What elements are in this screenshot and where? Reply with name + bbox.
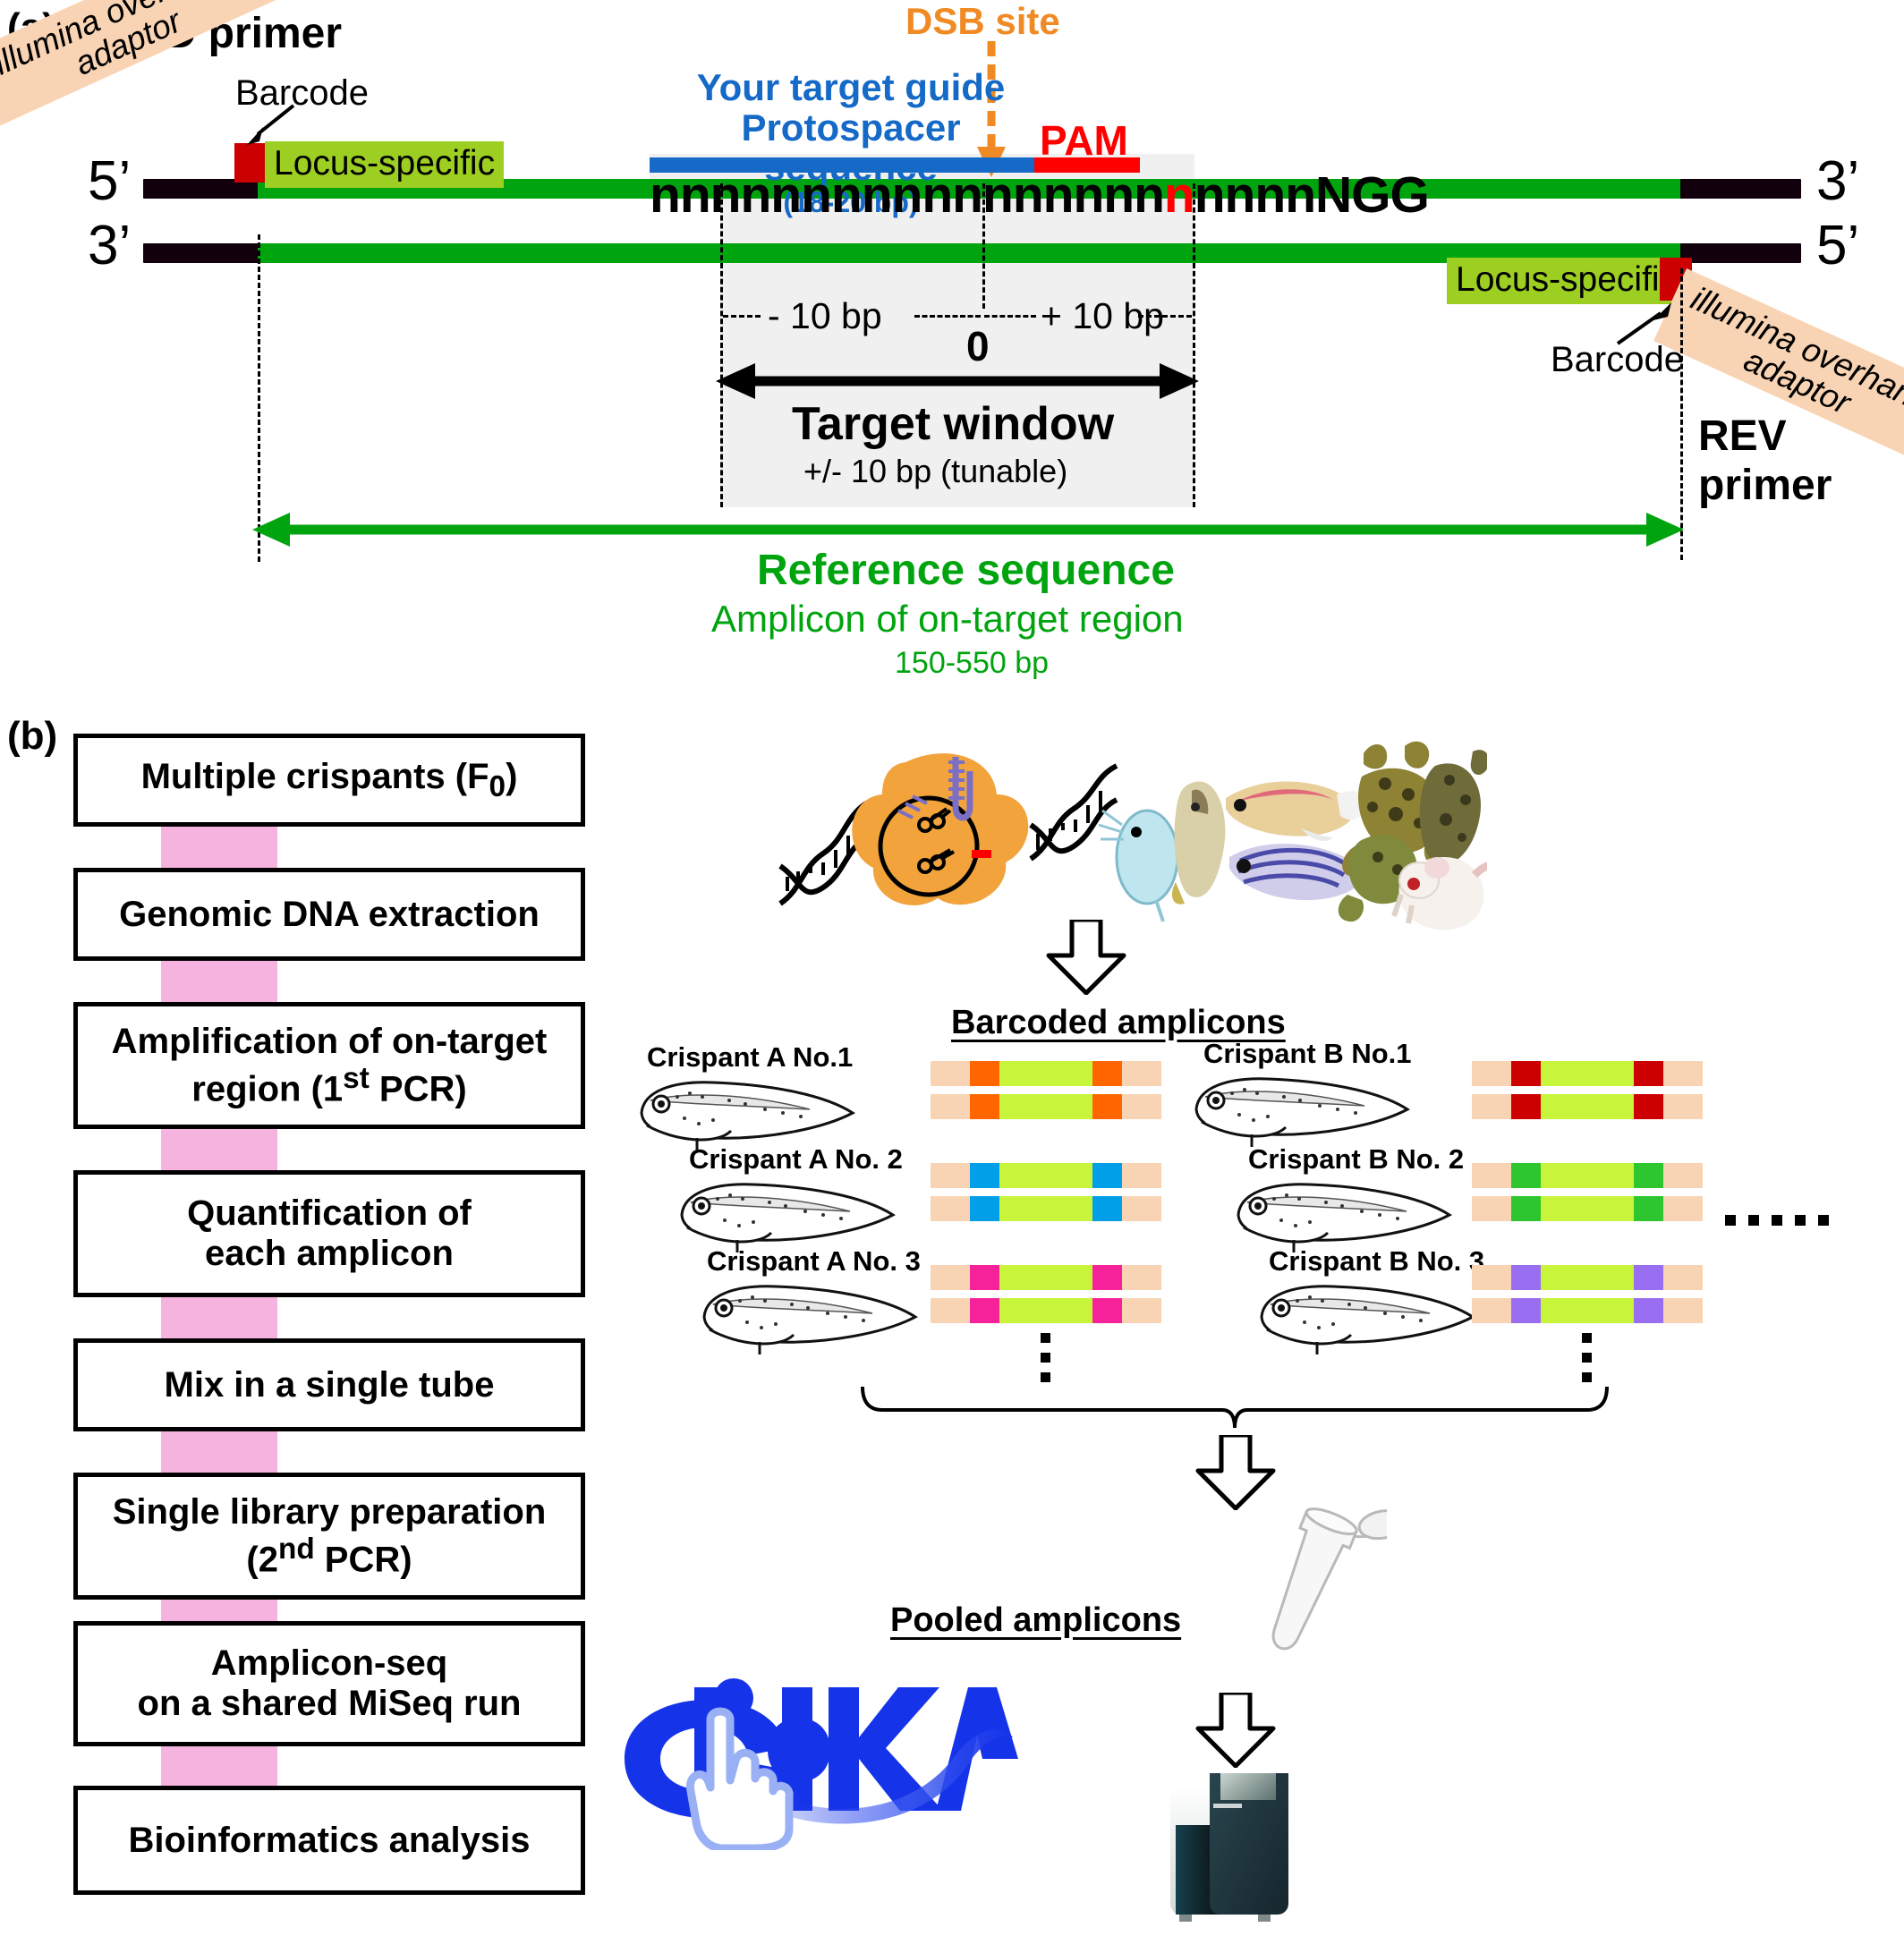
amplicon-adaptor-left (1472, 1265, 1511, 1290)
miseq-sequencer-icon (1154, 1773, 1378, 1936)
amplicon-adaptor-right (1663, 1298, 1703, 1323)
sequence-cut-base: n (1164, 166, 1194, 224)
window-right-dash (1193, 183, 1195, 507)
amplicon-adaptor-left (931, 1163, 970, 1188)
panel-b-label: (b) (7, 714, 57, 759)
amplicon-adaptor-right (1663, 1163, 1703, 1188)
tadpole-icon-b3 (1251, 1278, 1483, 1358)
pooling-brace-icon (859, 1383, 1611, 1442)
amplicon-barcode-left (1511, 1094, 1542, 1119)
flow-step-1-label: Genomic DNA extraction (119, 895, 540, 935)
pam-label: PAM (1040, 116, 1128, 165)
tadpole-icon-a1 (631, 1074, 863, 1154)
flow-step-6[interactable]: Amplicon-seqon a shared MiSeq run (73, 1621, 585, 1746)
amplicon-adaptor-right (1122, 1163, 1161, 1188)
amplicon-adaptor-right (1663, 1094, 1703, 1119)
amplicon-a-continuation-dots (1041, 1333, 1050, 1382)
barcode-label-rev: Barcode (1551, 340, 1684, 380)
amplicon-body (1541, 1196, 1633, 1221)
amplicon-barcode-left (970, 1196, 1000, 1221)
amplicon-body (999, 1061, 1092, 1086)
barcode-pointer-rev-icon (1611, 301, 1675, 345)
amplicon-strand-bottom (1472, 1196, 1703, 1221)
reference-sequence-length: 150-550 bp (895, 646, 1049, 681)
amplicon-adaptor-left (1472, 1094, 1511, 1119)
arrow-organisms-to-amplicons-icon (1045, 920, 1127, 995)
amplicon-body (999, 1265, 1092, 1290)
amplicon-strand-top (1472, 1061, 1703, 1086)
amplicon-row-b2 (1472, 1163, 1703, 1221)
amplicon-adaptor-left (1472, 1196, 1511, 1221)
window-left-dash (720, 183, 723, 507)
amplicon-adaptor-left (931, 1265, 970, 1290)
amplicon-barcode-left (970, 1265, 1000, 1290)
amplicon-adaptor-left (1472, 1163, 1511, 1188)
panel-a: (a) 5’ 3’ 3’ 5’ FWD primer illumina over… (0, 0, 1904, 707)
cas9-protein-icon (852, 753, 1028, 905)
amplicon-body (999, 1094, 1092, 1119)
amplicon-body (1541, 1298, 1633, 1323)
amplicon-b-continuation-dots (1582, 1333, 1592, 1382)
flow-step-1[interactable]: Genomic DNA extraction (73, 868, 585, 961)
amplicon-adaptor-right (1663, 1196, 1703, 1221)
amplicon-barcode-left (970, 1163, 1000, 1188)
amplicon-adaptor-left (1472, 1061, 1511, 1086)
amplicon-barcode-left (1511, 1298, 1542, 1323)
amplicon-strand-top (1472, 1163, 1703, 1188)
amplicon-adaptor-right (1122, 1298, 1161, 1323)
amplicon-adaptor-right (1122, 1094, 1161, 1119)
amplicon-strand-top (1472, 1265, 1703, 1290)
flow-step-5-label: Single library preparation(2nd PCR) (113, 1492, 547, 1580)
amplicon-adaptor-left (1472, 1298, 1511, 1323)
amplicon-adaptor-right (1122, 1265, 1161, 1290)
amplicon-barcode-right (1092, 1265, 1123, 1290)
amplicon-row-a1 (931, 1061, 1161, 1119)
amplicon-row-b1 (1472, 1061, 1703, 1119)
cas9-and-organisms-illustration (771, 732, 1487, 938)
amplicon-barcode-left (1511, 1163, 1542, 1188)
pooled-amplicons-title: Pooled amplicons (890, 1601, 1181, 1640)
flow-step-5[interactable]: Single library preparation(2nd PCR) (73, 1473, 585, 1600)
flow-step-6-label: Amplicon-seqon a shared MiSeq run (138, 1643, 522, 1724)
reference-sequence-subtitle: Amplicon of on-target region (711, 598, 1184, 641)
amplicon-body (1541, 1061, 1633, 1086)
amplicon-strand-top (931, 1061, 1161, 1086)
minus10-dash-left (723, 315, 761, 318)
amplicon-barcode-right (1634, 1298, 1664, 1323)
flow-step-4-label: Mix in a single tube (165, 1365, 495, 1405)
amplicon-barcode-right (1092, 1196, 1123, 1221)
amplicon-body (1541, 1094, 1633, 1119)
label-5prime-right: 5’ (1816, 218, 1859, 274)
minus-10bp-label: - 10 bp (768, 295, 882, 337)
rev-primer-title: REV primer (1698, 412, 1904, 510)
amplicon-row-a2 (931, 1163, 1161, 1221)
plus-10bp-label: + 10 bp (1041, 295, 1164, 337)
plus10-dash-left (984, 315, 1036, 318)
barcode-pointer-fwd-icon (242, 104, 304, 147)
flow-step-3[interactable]: Quantification ofeach amplicon (73, 1170, 585, 1297)
amplicon-body (1541, 1265, 1633, 1290)
locus-specific-rev: Locus-specific (1447, 258, 1686, 304)
flow-step-2[interactable]: Amplification of on-targetregion (1st PC… (73, 1002, 585, 1129)
model-organisms-icon (1099, 742, 1487, 930)
amplicon-adaptor-left (931, 1061, 970, 1086)
amplicon-adaptor-left (931, 1298, 970, 1323)
label-3prime-right: 3’ (1816, 154, 1859, 209)
flow-step-0[interactable]: Multiple crispants (F0) (73, 734, 585, 827)
dna-top-right-black (1680, 179, 1801, 199)
flow-step-0-label: Multiple crispants (F0) (141, 757, 518, 803)
target-sequence: nnnnnnnnnnnnnnnnnnnnnnNGG (650, 170, 1429, 221)
amplicon-adaptor-right (1663, 1061, 1703, 1086)
target-window-arrow-icon (716, 361, 1199, 401)
amplicon-body (999, 1163, 1092, 1188)
flow-step-3-label: Quantification ofeach amplicon (187, 1193, 472, 1274)
amplicon-barcode-right (1634, 1061, 1664, 1086)
flow-step-7[interactable]: Bioinformatics analysis (73, 1786, 585, 1895)
amplicon-barcode-left (1511, 1061, 1542, 1086)
amplicon-barcode-left (970, 1094, 1000, 1119)
amplicon-barcode-right (1092, 1094, 1123, 1119)
dna-bottom-right-black (1680, 243, 1801, 263)
label-5prime-left: 5’ (88, 154, 131, 209)
amplicon-barcode-left (970, 1061, 1000, 1086)
tadpole-icon-a2 (671, 1176, 904, 1256)
amplicon-strand-bottom (931, 1298, 1161, 1323)
flow-step-2-label: Amplification of on-targetregion (1st PC… (112, 1022, 548, 1109)
dsb-site-label: DSB site (905, 0, 1060, 43)
amplicon-body (999, 1196, 1092, 1221)
guide-caption-line1: Your target guide (650, 68, 1052, 108)
amplicon-barcode-left (1511, 1196, 1542, 1221)
amplicon-strand-bottom (931, 1094, 1161, 1119)
amplicon-barcode-right (1092, 1163, 1123, 1188)
microcentrifuge-tube-icon (1217, 1494, 1387, 1691)
window-center-dash (982, 183, 985, 309)
tadpole-icon-a3 (693, 1278, 926, 1358)
reference-sequence-title: Reference sequence (757, 546, 1175, 595)
crispant-a-1-label: Crispant A No.1 (647, 1041, 853, 1074)
amplicon-adaptor-left (931, 1094, 970, 1119)
barcoded-amplicons-title: Barcoded amplicons (951, 1004, 1286, 1042)
amplicon-barcode-left (970, 1298, 1000, 1323)
amplicon-adaptor-right (1122, 1061, 1161, 1086)
amplicon-row-a3 (931, 1265, 1161, 1323)
amplicon-strand-bottom (931, 1196, 1161, 1221)
amplicon-barcode-right (1634, 1196, 1664, 1221)
amplicon-body (999, 1298, 1092, 1323)
amplicon-strand-top (931, 1265, 1161, 1290)
amplicon-barcode-right (1634, 1265, 1664, 1290)
crispant-b-1-label: Crispant B No.1 (1203, 1038, 1412, 1070)
amplicon-barcode-right (1092, 1298, 1123, 1323)
barcode-block-fwd (234, 143, 267, 183)
panel-b: (b) Multiple crispants (F0) Genomic DNA … (0, 707, 1904, 1868)
amplicon-strand-top (931, 1163, 1161, 1188)
amplicon-barcode-right (1634, 1163, 1664, 1188)
target-window-title: Target window (792, 397, 1114, 451)
sequence-right: nnnnNGG (1194, 166, 1429, 224)
amplicon-barcode-right (1634, 1094, 1664, 1119)
amplicon-adaptor-right (1663, 1265, 1703, 1290)
amplicon-strand-bottom (1472, 1298, 1703, 1323)
tadpole-icon-b2 (1228, 1176, 1460, 1256)
amplicon-strand-bottom (1472, 1094, 1703, 1119)
label-3prime-left: 3’ (88, 218, 131, 274)
amplicon-barcode-left (1511, 1265, 1542, 1290)
amplicon-barcode-right (1092, 1061, 1123, 1086)
amplicon-adaptor-left (931, 1196, 970, 1221)
clickar-logo[interactable] (598, 1644, 1018, 1850)
amplicon-adaptor-right (1122, 1196, 1161, 1221)
dna-bottom-left-black (143, 243, 261, 263)
flow-step-4[interactable]: Mix in a single tube (73, 1338, 585, 1431)
flow-step-7-label: Bioinformatics analysis (128, 1821, 530, 1861)
minus10-dash-right (914, 315, 981, 318)
target-window-subtitle: +/- 10 bp (tunable) (803, 453, 1067, 490)
arrow-to-sequencer-icon (1194, 1693, 1277, 1768)
more-crispants-dots (1725, 1215, 1829, 1226)
amplicon-row-b3 (1472, 1265, 1703, 1323)
tadpole-icon-b1 (1186, 1070, 1418, 1151)
locus-specific-fwd: Locus-specific (265, 141, 504, 188)
reference-sequence-arrow-icon (252, 510, 1684, 549)
amplicon-body (1541, 1163, 1633, 1188)
sequence-left: nnnnnnnnnnnnnnnnn (650, 166, 1164, 224)
